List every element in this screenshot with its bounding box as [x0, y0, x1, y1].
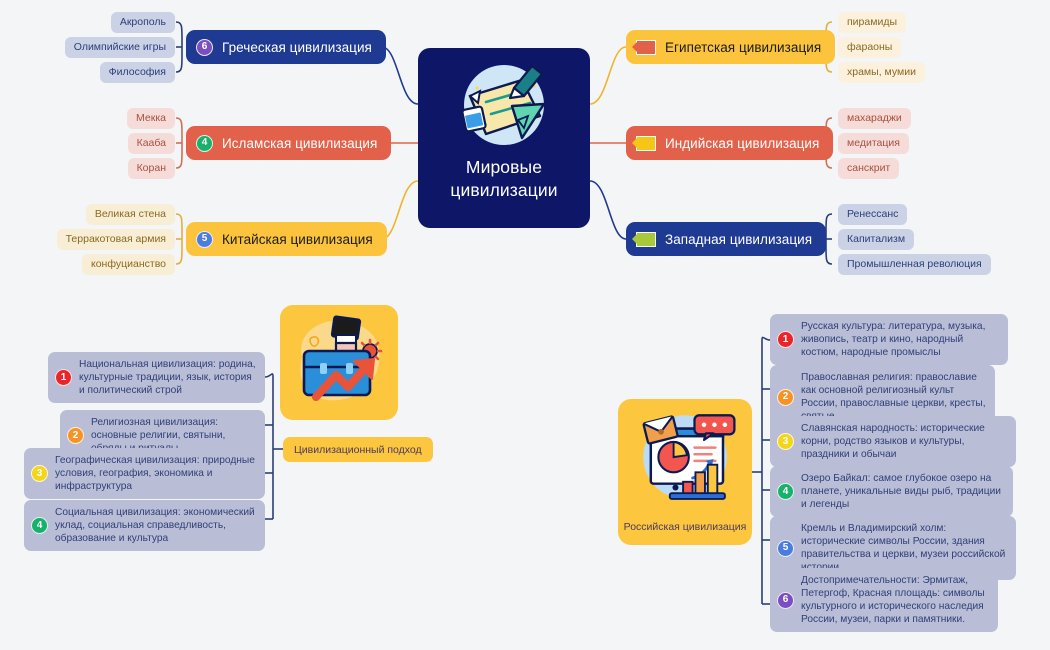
russia-item-6[interactable]: 6 Достопримечательности: Эрмитаж, Петерг…	[770, 568, 998, 632]
branch-chinese-label: Китайская цивилизация	[222, 232, 373, 247]
approach-image-card[interactable]	[280, 305, 398, 420]
badge-number-1: 1	[636, 40, 656, 55]
badge-number-3: 3	[777, 433, 794, 450]
leaf-islamic-2[interactable]: Кааба	[128, 133, 175, 154]
badge-number-4: 4	[777, 483, 794, 500]
approach-item-1[interactable]: 1 Национальная цивилизация: родина, куль…	[48, 352, 265, 403]
branch-egyptian[interactable]: 1 Египетская цивилизация	[626, 30, 835, 64]
russia-item-4-text: Озеро Байкал: самое глубокое озеро на пл…	[801, 472, 1004, 511]
approach-item-1-text: Национальная цивилизация: родина, культу…	[79, 358, 256, 397]
russia-item-3-text: Славянская народность: исторические корн…	[801, 422, 1007, 461]
leaf-western-3[interactable]: Промышленная революция	[838, 254, 991, 275]
russia-caption: Российская цивилизация	[618, 521, 752, 533]
branch-indian-label: Индийская цивилизация	[665, 136, 819, 151]
russia-item-6-text: Достопримечательности: Эрмитаж, Петергоф…	[801, 574, 989, 626]
russia-image-card[interactable]: Российская цивилизация	[618, 399, 752, 545]
leaf-indian-3[interactable]: санскрит	[838, 158, 899, 179]
badge-number-1: 1	[777, 331, 794, 348]
central-node[interactable]: Мировые цивилизации	[418, 48, 590, 228]
badge-number-2: 2	[67, 427, 84, 444]
badge-number-3: 3	[636, 232, 656, 247]
leaf-egyptian-1[interactable]: пирамиды	[838, 12, 906, 33]
badge-number-5: 5	[777, 540, 794, 557]
leaf-western-2[interactable]: Капитализм	[838, 229, 914, 250]
badge-number-2: 2	[636, 136, 656, 151]
branch-greek[interactable]: 6 Греческая цивилизация	[186, 30, 386, 64]
leaf-greek-3[interactable]: Философия	[100, 62, 175, 83]
leaf-egyptian-3[interactable]: храмы, мумии	[838, 62, 925, 83]
leaf-islamic-3[interactable]: Коран	[128, 158, 175, 179]
central-node-title-line1: Мировые	[418, 156, 590, 179]
russia-item-1-text: Русская культура: литература, музыка, жи…	[801, 320, 999, 359]
badge-number-1: 1	[55, 369, 72, 386]
leaf-egyptian-2[interactable]: фараоны	[838, 37, 901, 58]
approach-caption-pill[interactable]: Цивилизационный подход	[283, 437, 433, 462]
badge-number-5: 5	[196, 231, 213, 248]
badge-number-4: 4	[31, 517, 48, 534]
branch-chinese[interactable]: 5 Китайская цивилизация	[186, 222, 387, 256]
branch-indian[interactable]: 2 Индийская цивилизация	[626, 126, 833, 160]
branch-islamic-label: Исламская цивилизация	[222, 136, 377, 151]
branch-islamic[interactable]: 4 Исламская цивилизация	[186, 126, 391, 160]
approach-item-4-text: Социальная цивилизация: экономический ук…	[55, 506, 256, 545]
approach-item-3[interactable]: 3 Географическая цивилизация: природные …	[24, 448, 265, 499]
russia-item-1[interactable]: 1 Русская культура: литература, музыка, …	[770, 314, 1008, 365]
briefcase-growth-arrow-icon	[280, 305, 398, 420]
presentation-charts-icon	[628, 407, 742, 511]
central-node-title-line2: цивилизации	[418, 179, 590, 202]
russia-item-3[interactable]: 3 Славянская народность: исторические ко…	[770, 416, 1016, 467]
notebook-pencil-ruler-icon	[452, 58, 556, 154]
badge-number-6: 6	[196, 39, 213, 56]
branch-western[interactable]: 3 Западная цивилизация	[626, 222, 826, 256]
russia-item-5-text: Кремль и Владимирский холм: исторические…	[801, 522, 1007, 574]
leaf-western-1[interactable]: Ренессанс	[838, 204, 907, 225]
leaf-chinese-1[interactable]: Великая стена	[86, 204, 175, 225]
leaf-greek-2[interactable]: Олимпийские игры	[65, 37, 175, 58]
leaf-islamic-1[interactable]: Мекка	[127, 108, 175, 129]
approach-item-3-text: Географическая цивилизация: природные ус…	[55, 454, 256, 493]
branch-greek-label: Греческая цивилизация	[222, 40, 372, 55]
leaf-indian-2[interactable]: медитация	[838, 133, 909, 154]
branch-egyptian-label: Египетская цивилизация	[665, 40, 821, 55]
mindmap-canvas: Мировые цивилизации 6 Греческая цивилиза…	[0, 0, 1050, 650]
leaf-greek-1[interactable]: Акрополь	[111, 12, 175, 33]
badge-number-6: 6	[777, 592, 794, 609]
badge-number-3: 3	[31, 465, 48, 482]
leaf-chinese-3[interactable]: конфуцианство	[82, 254, 175, 275]
russia-item-4[interactable]: 4 Озеро Байкал: самое глубокое озеро на …	[770, 466, 1013, 517]
badge-number-4: 4	[196, 135, 213, 152]
branch-western-label: Западная цивилизация	[665, 232, 812, 247]
approach-item-4[interactable]: 4 Социальная цивилизация: экономический …	[24, 500, 265, 551]
badge-number-2: 2	[777, 389, 794, 406]
leaf-indian-1[interactable]: махараджи	[838, 108, 911, 129]
leaf-chinese-2[interactable]: Терракотовая армия	[57, 229, 175, 250]
